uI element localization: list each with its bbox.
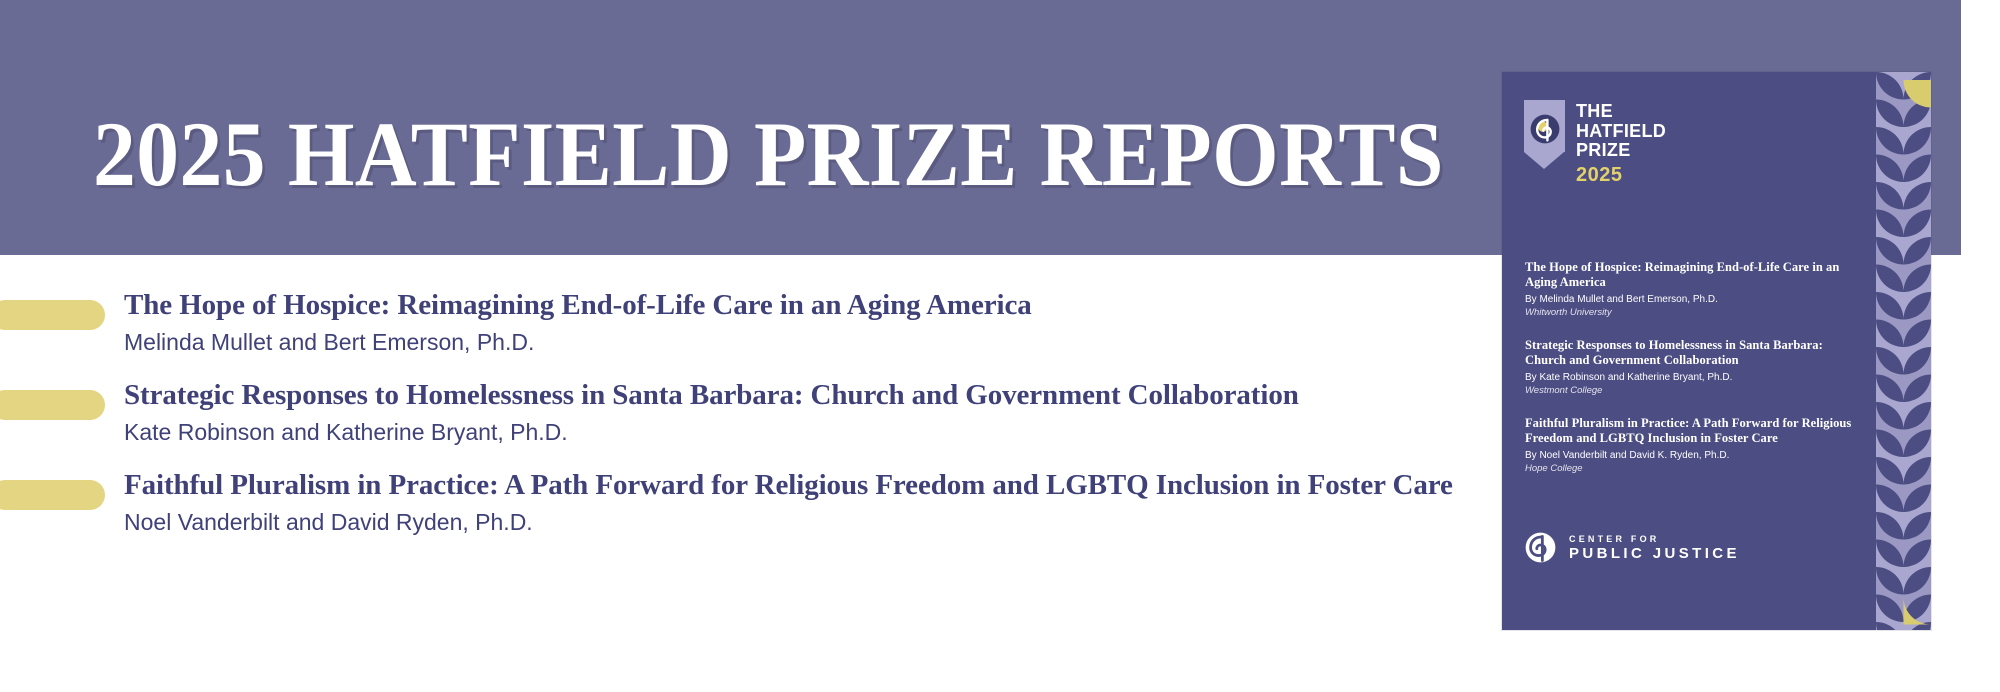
cpj-line-center-for: CENTER FOR: [1569, 533, 1740, 545]
report-title[interactable]: Faithful Pluralism in Practice: A Path F…: [124, 468, 1453, 502]
report-title[interactable]: The Hope of Hospice: Reimagining End-of-…: [124, 288, 1032, 322]
cover-entry-authors: By Melinda Mullet and Bert Emerson, Ph.D…: [1525, 293, 1855, 306]
logo-line-the: THE: [1576, 102, 1666, 122]
gold-pill-marker: [0, 480, 105, 510]
cpj-line-public-justice: PUBLIC JUSTICE: [1569, 545, 1740, 563]
shield-point: [1524, 152, 1564, 169]
cover-entry-title: Strategic Responses to Homelessness in S…: [1525, 338, 1855, 368]
list-item[interactable]: The Hope of Hospice: Reimagining End-of-…: [0, 288, 1500, 378]
list-item[interactable]: Faithful Pluralism in Practice: A Path F…: [0, 468, 1500, 558]
cover-entry-school: Whitworth University: [1525, 307, 1855, 319]
cover-entry-authors: By Noel Vanderbilt and David K. Ryden, P…: [1525, 449, 1855, 462]
shield-icon: [1524, 100, 1565, 169]
gold-pill-marker: [0, 390, 105, 420]
cover-entry-school: Hope College: [1525, 463, 1855, 475]
report-authors: Melinda Mullet and Bert Emerson, Ph.D.: [124, 327, 1032, 357]
logo-wordmark: THE HATFIELD PRIZE 2025: [1576, 100, 1666, 187]
cover-entry-list: The Hope of Hospice: Reimagining End-of-…: [1525, 260, 1855, 475]
petal-pattern-svg: [1876, 72, 1931, 630]
logo-line-prize: PRIZE: [1576, 141, 1666, 161]
report-authors: Noel Vanderbilt and David Ryden, Ph.D.: [124, 507, 1453, 537]
report-title[interactable]: Strategic Responses to Homelessness in S…: [124, 378, 1299, 412]
cover-entry: Strategic Responses to Homelessness in S…: [1525, 338, 1855, 397]
cover-entry-authors: By Kate Robinson and Katherine Bryant, P…: [1525, 371, 1855, 384]
hatfield-prize-logo: THE HATFIELD PRIZE 2025: [1524, 100, 1666, 187]
report-cover-thumbnail[interactable]: THE HATFIELD PRIZE 2025 The Hope of Hosp…: [1502, 72, 1931, 630]
report-list: The Hope of Hospice: Reimagining End-of-…: [0, 288, 1500, 558]
cover-entry-school: Westmont College: [1525, 385, 1855, 397]
cover-entry-title: The Hope of Hospice: Reimagining End-of-…: [1525, 260, 1855, 290]
page-title: 2025 HATFIELD PRIZE REPORTS: [93, 108, 1444, 200]
cpj-spiral-icon: [1530, 114, 1560, 144]
report-text-block: Faithful Pluralism in Practice: A Path F…: [124, 468, 1453, 537]
logo-year: 2025: [1576, 163, 1666, 187]
cover-entry: The Hope of Hospice: Reimagining End-of-…: [1525, 260, 1855, 319]
cpj-spiral-icon: [1525, 532, 1556, 563]
gold-pill-marker: [0, 300, 105, 330]
cpj-wordmark: CENTER FOR PUBLIC JUSTICE: [1569, 533, 1740, 563]
report-authors: Kate Robinson and Katherine Bryant, Ph.D…: [124, 417, 1299, 447]
report-text-block: Strategic Responses to Homelessness in S…: [124, 378, 1299, 447]
cover-entry: Faithful Pluralism in Practice: A Path F…: [1525, 416, 1855, 475]
logo-line-hatfield: HATFIELD: [1576, 122, 1666, 142]
report-text-block: The Hope of Hospice: Reimagining End-of-…: [124, 288, 1032, 357]
petal-pattern-decoration: [1876, 72, 1931, 630]
center-for-public-justice-logo: CENTER FOR PUBLIC JUSTICE: [1525, 532, 1740, 563]
cover-entry-title: Faithful Pluralism in Practice: A Path F…: [1525, 416, 1855, 446]
list-item[interactable]: Strategic Responses to Homelessness in S…: [0, 378, 1500, 468]
